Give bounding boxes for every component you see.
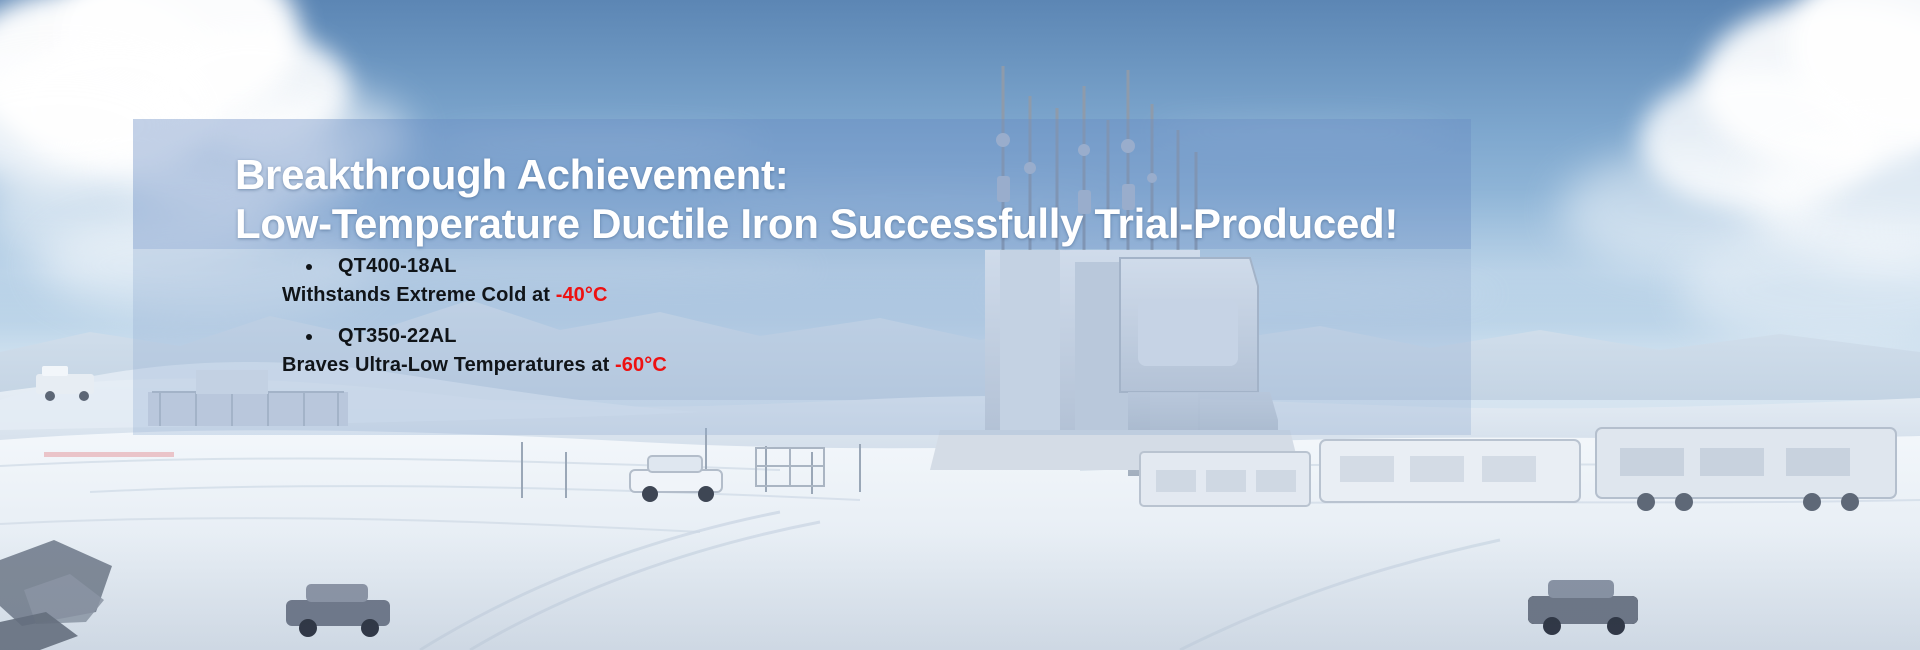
feature-bullet-list: QT400-18AL Withstands Extreme Cold at -4… (282, 256, 1382, 375)
temperature-value: -60°C (615, 354, 667, 376)
temperature-value: -40°C (556, 284, 608, 306)
page-title: Breakthrough Achievement: Low-Temperatur… (235, 154, 1495, 245)
material-grade-label: QT350-22AL (338, 325, 457, 347)
bullet-row: QT350-22AL (306, 326, 1382, 346)
material-grade-label: QT400-18AL (338, 255, 457, 277)
bullet-description: Withstands Extreme Cold at -40°C (282, 285, 1382, 305)
container-window (1410, 456, 1464, 482)
promo-banner: Breakthrough Achievement: Low-Temperatur… (0, 0, 1920, 650)
ground-marker-strip (44, 452, 174, 457)
container-window (1786, 448, 1850, 476)
list-item: QT350-22AL Braves Ultra-Low Temperatures… (282, 326, 1382, 375)
container-window (1256, 470, 1296, 492)
container-window (1700, 448, 1764, 476)
container-window (1340, 456, 1394, 482)
container-window (1156, 470, 1196, 492)
bullet-description: Braves Ultra-Low Temperatures at -60°C (282, 355, 1382, 375)
bullet-description-text: Withstands Extreme Cold at (282, 284, 556, 306)
bullet-dot-icon (306, 264, 312, 270)
container-window (1620, 448, 1684, 476)
container-window (1482, 456, 1536, 482)
headline-line-2: Low-Temperature Ductile Iron Successfull… (235, 203, 1495, 245)
bullet-dot-icon (306, 334, 312, 340)
bullet-row: QT400-18AL (306, 256, 1382, 276)
list-item: QT400-18AL Withstands Extreme Cold at -4… (282, 256, 1382, 305)
container-window (1206, 470, 1246, 492)
headline-line-1: Breakthrough Achievement: (235, 154, 1495, 196)
bullet-description-text: Braves Ultra-Low Temperatures at (282, 354, 615, 376)
